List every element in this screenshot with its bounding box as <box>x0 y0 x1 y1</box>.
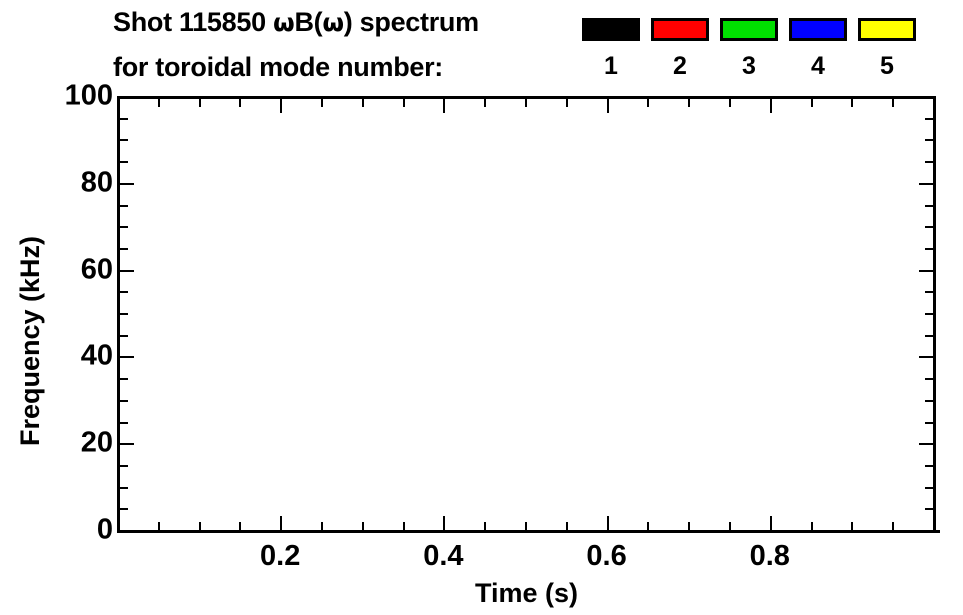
y-tick-right-minor <box>925 205 933 207</box>
x-tick-top-minor <box>484 99 486 107</box>
title-shot-text: Shot 115850 <box>113 7 273 37</box>
x-tick-top-minor <box>239 99 241 107</box>
legend-swatch-4 <box>789 18 847 41</box>
y-tick-right-major <box>919 530 933 532</box>
x-tick-top-minor <box>729 99 731 107</box>
y-tick-right-major <box>919 270 933 272</box>
legend-item-1[interactable]: 1 <box>578 0 648 92</box>
legend-swatch-5 <box>858 18 916 41</box>
x-tick-top-major <box>933 99 935 113</box>
y-tick-right-minor <box>925 291 933 293</box>
x-tick-bottom-minor <box>403 522 405 530</box>
y-tick-left-minor <box>120 226 128 228</box>
y-tick-left-minor <box>120 378 128 380</box>
figure-root: Shot 115850 ωB(ω) spectrum for toroidal … <box>0 0 963 615</box>
y-tick-left-major <box>120 96 134 98</box>
legend-item-3[interactable]: 3 <box>716 0 786 92</box>
y-tick-left-major <box>120 443 134 445</box>
x-tick-bottom-major <box>770 516 772 530</box>
y-tick-right-minor <box>925 139 933 141</box>
y-tick-left-minor <box>120 422 128 424</box>
x-tick-top-major <box>117 99 119 113</box>
y-tick-right-minor <box>925 161 933 163</box>
axis-frame-right <box>933 96 936 533</box>
figure-title-line-1: Shot 115850 ωB(ω) spectrum <box>113 7 479 38</box>
y-tick-left-minor <box>120 487 128 489</box>
title-B-text: B( <box>294 7 322 37</box>
x-tick-bottom-minor <box>647 522 649 530</box>
plot-canvas-empty <box>120 99 933 530</box>
y-tick-left-minor <box>120 161 128 163</box>
y-tick-left-minor <box>120 400 128 402</box>
plot-area[interactable] <box>117 96 936 533</box>
x-tick-bottom-major <box>607 516 609 530</box>
legend-swatch-1 <box>582 18 640 41</box>
y-tick-left-minor <box>120 508 128 510</box>
x-tick-bottom-minor <box>484 522 486 530</box>
y-axis-title: Frequency (kHz) <box>15 161 45 521</box>
y-tick-right-minor <box>925 226 933 228</box>
title-spectrum-text: ) spectrum <box>344 7 479 37</box>
x-tick-bottom-minor <box>199 522 201 530</box>
axis-frame-bottom <box>117 530 940 533</box>
figure-title-line-2: for toroidal mode number: <box>113 52 443 83</box>
x-tick-label-0.8: 0.8 <box>725 540 815 572</box>
x-tick-bottom-minor <box>525 522 527 530</box>
y-tick-left-minor <box>120 205 128 207</box>
y-tick-left-minor <box>120 465 128 467</box>
y-tick-right-minor <box>925 248 933 250</box>
y-axis-title-wrap: Frequency (kHz) <box>0 96 60 533</box>
y-tick-right-minor <box>925 118 933 120</box>
y-tick-right-major <box>919 443 933 445</box>
x-tick-label-0.4: 0.4 <box>398 540 488 572</box>
legend-item-2[interactable]: 2 <box>647 0 717 92</box>
legend: 1 2 3 4 5 <box>578 0 963 92</box>
x-tick-top-major <box>280 99 282 113</box>
y-tick-right-major <box>919 96 933 98</box>
x-tick-bottom-major <box>443 516 445 530</box>
x-tick-top-major <box>443 99 445 113</box>
x-tick-top-minor <box>851 99 853 107</box>
x-tick-bottom-major <box>933 516 935 530</box>
legend-label-5: 5 <box>854 52 920 80</box>
y-tick-left-minor <box>120 291 128 293</box>
legend-label-3: 3 <box>716 52 782 80</box>
x-tick-top-minor <box>158 99 160 107</box>
x-tick-bottom-minor <box>158 522 160 530</box>
omega-symbol-2: ω <box>322 8 343 37</box>
legend-label-1: 1 <box>578 52 644 80</box>
y-tick-right-minor <box>925 422 933 424</box>
y-tick-left-minor <box>120 313 128 315</box>
x-tick-top-minor <box>688 99 690 107</box>
y-tick-right-minor <box>925 378 933 380</box>
x-tick-bottom-minor <box>688 522 690 530</box>
x-tick-bottom-major <box>117 516 119 530</box>
y-tick-left-major <box>120 270 134 272</box>
x-tick-bottom-minor <box>239 522 241 530</box>
x-tick-bottom-major <box>280 516 282 530</box>
y-tick-right-minor <box>925 400 933 402</box>
x-tick-label-0.6: 0.6 <box>562 540 652 572</box>
y-tick-left-major <box>120 356 134 358</box>
omega-symbol-1: ω <box>273 8 294 37</box>
x-tick-top-minor <box>362 99 364 107</box>
legend-swatch-3 <box>720 18 778 41</box>
y-tick-left-minor <box>120 335 128 337</box>
y-tick-right-major <box>919 183 933 185</box>
x-tick-top-major <box>607 99 609 113</box>
y-tick-left-minor <box>120 248 128 250</box>
x-tick-bottom-minor <box>729 522 731 530</box>
legend-item-4[interactable]: 4 <box>785 0 855 92</box>
x-axis-title: Time (s) <box>117 578 936 608</box>
legend-label-4: 4 <box>785 52 851 80</box>
x-tick-bottom-minor <box>851 522 853 530</box>
y-tick-right-minor <box>925 313 933 315</box>
x-tick-top-minor <box>321 99 323 107</box>
x-tick-top-minor <box>647 99 649 107</box>
y-tick-left-minor <box>120 139 128 141</box>
y-tick-left-minor <box>120 118 128 120</box>
x-tick-bottom-minor <box>811 522 813 530</box>
x-tick-top-minor <box>199 99 201 107</box>
y-tick-right-minor <box>925 335 933 337</box>
x-tick-top-minor <box>811 99 813 107</box>
x-tick-top-minor <box>892 99 894 107</box>
x-tick-top-minor <box>525 99 527 107</box>
y-tick-left-major <box>120 183 134 185</box>
y-tick-right-minor <box>925 508 933 510</box>
legend-item-5[interactable]: 5 <box>854 0 924 92</box>
x-axis-tick-labels: 0.20.40.60.8 <box>117 540 940 580</box>
x-tick-bottom-minor <box>321 522 323 530</box>
y-tick-right-major <box>919 356 933 358</box>
x-tick-bottom-minor <box>362 522 364 530</box>
legend-label-2: 2 <box>647 52 713 80</box>
x-tick-label-0.2: 0.2 <box>235 540 325 572</box>
x-tick-top-major <box>770 99 772 113</box>
y-tick-left-major <box>120 530 134 532</box>
y-tick-right-minor <box>925 487 933 489</box>
y-tick-right-minor <box>925 465 933 467</box>
x-tick-bottom-minor <box>566 522 568 530</box>
x-tick-top-minor <box>403 99 405 107</box>
x-tick-top-minor <box>566 99 568 107</box>
legend-swatch-2 <box>651 18 709 41</box>
x-tick-bottom-minor <box>892 522 894 530</box>
